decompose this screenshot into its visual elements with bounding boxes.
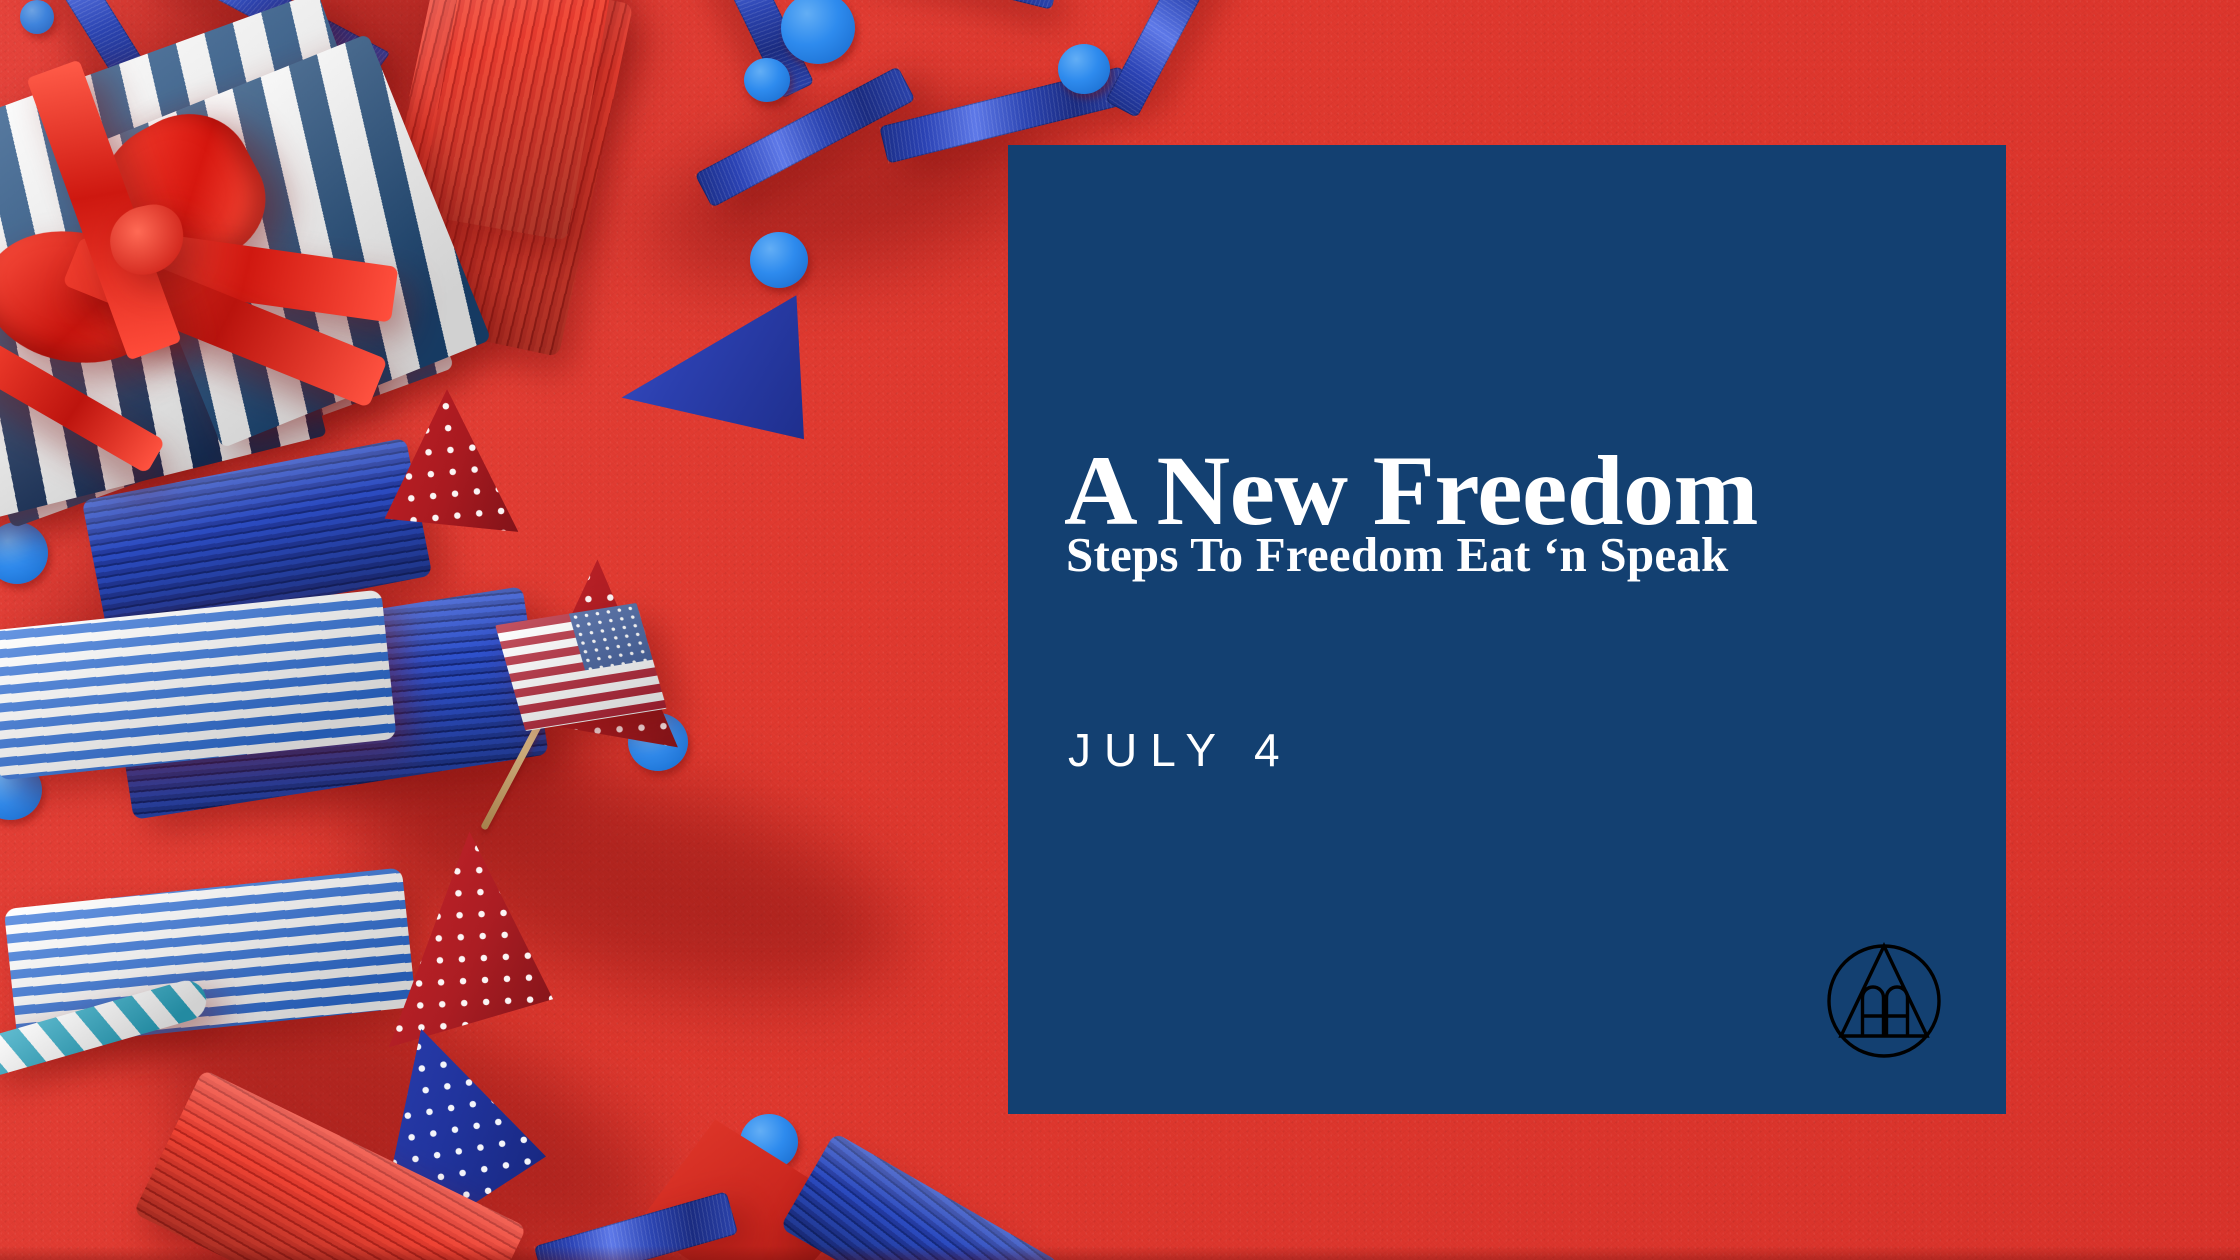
page-subtitle: Steps To Freedom Eat ‘n Speak (1066, 530, 1952, 579)
blue-confetti-dot (750, 232, 808, 288)
blue-confetti-dot (1058, 44, 1110, 94)
text-panel-content: A New Freedom Steps To Freedom Eat ‘n Sp… (1008, 145, 2006, 1114)
flag-sheen (495, 603, 667, 731)
text-panel: A New Freedom Steps To Freedom Eat ‘n Sp… (1008, 145, 2006, 1114)
usa-flag-pick (495, 603, 667, 731)
page-title: A New Freedom (1064, 441, 1968, 541)
alcoholics-anonymous-logo (1826, 940, 1942, 1062)
blue-confetti-dot (744, 58, 790, 102)
event-date-label: JULY 4 (1068, 723, 1293, 777)
blue-confetti-dot (20, 0, 54, 34)
poster-canvas: A New Freedom Steps To Freedom Eat ‘n Sp… (0, 0, 2240, 1260)
